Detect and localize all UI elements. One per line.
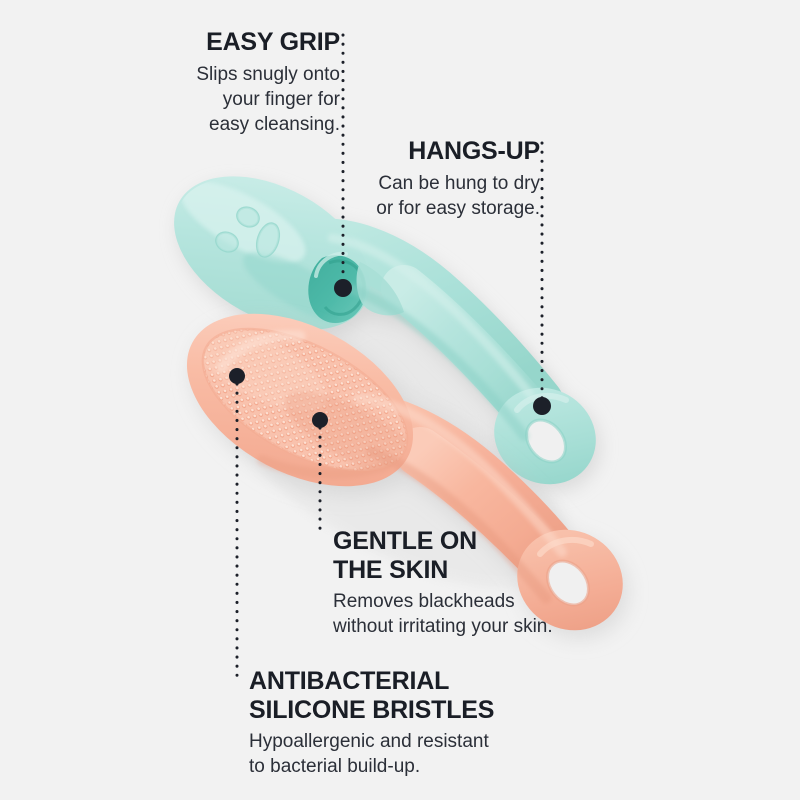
callout-antibacterial-silicone-bristles: ANTIBACTERIAL SILICONE BRISTLES Hypoalle… [249, 667, 579, 780]
infographic-stage: EASY GRIP Slips snugly onto your finger … [0, 0, 800, 800]
callout-body-gentle-on-the-skin: Removes blackheads without irritating yo… [333, 589, 633, 640]
marker-dot-easy-grip [334, 279, 352, 297]
callout-easy-grip: EASY GRIP Slips snugly onto your finger … [60, 28, 340, 137]
callout-heading-gentle-on-the-skin: GENTLE ON THE SKIN [333, 527, 633, 584]
callout-body-hangs-up: Can be hung to dry or for easy storage. [300, 171, 540, 222]
callout-heading-easy-grip: EASY GRIP [60, 28, 340, 57]
marker-dot-gentle [312, 412, 328, 428]
marker-dot-bristles [229, 368, 245, 384]
callout-heading-antibacterial-silicone-bristles: ANTIBACTERIAL SILICONE BRISTLES [249, 667, 579, 724]
marker-dot-hangs-up [533, 397, 551, 415]
callout-body-easy-grip: Slips snugly onto your finger for easy c… [60, 62, 340, 138]
callout-body-antibacterial-silicone-bristles: Hypoallergenic and resistant to bacteria… [249, 729, 579, 780]
callout-heading-hangs-up: HANGS-UP [300, 137, 540, 166]
callout-gentle-on-the-skin: GENTLE ON THE SKIN Removes blackheads wi… [333, 527, 633, 640]
callout-hangs-up: HANGS-UP Can be hung to dry or for easy … [300, 137, 540, 221]
